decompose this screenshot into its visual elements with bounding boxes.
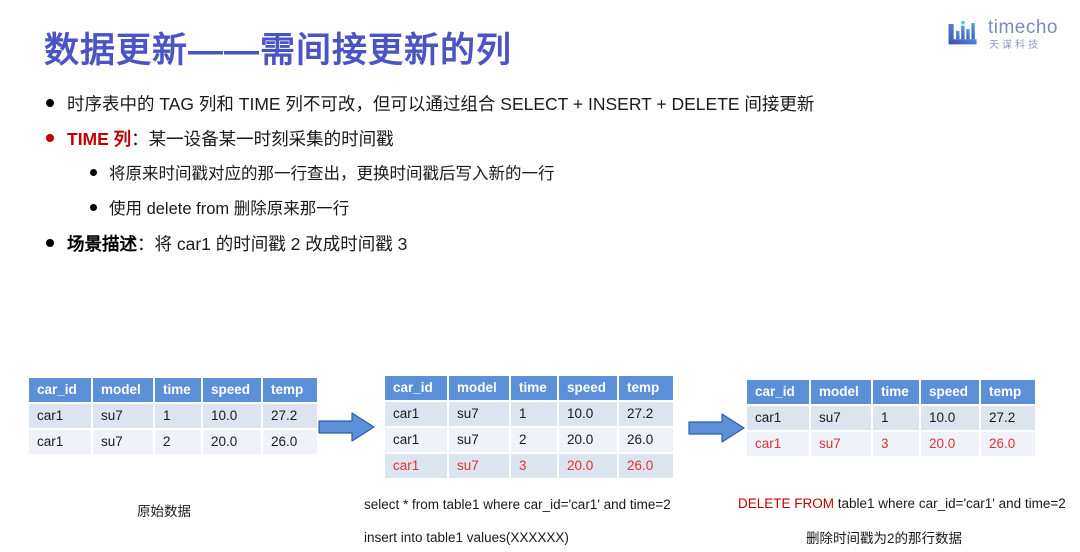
column-header-model: model bbox=[811, 380, 871, 404]
column-header-model: model bbox=[449, 376, 509, 400]
cell-car-id: car1 bbox=[385, 454, 447, 478]
caption-delete-rest: table1 where car_id='car1' and time=2 bbox=[834, 496, 1066, 511]
table-row: car1 su7 1 10.0 27.2 bbox=[747, 406, 1035, 430]
cell-model: su7 bbox=[93, 404, 153, 428]
column-header-speed: speed bbox=[921, 380, 979, 404]
cell-speed: 20.0 bbox=[203, 430, 261, 454]
caption-delete-statement: DELETE FROM table1 where car_id='car1' a… bbox=[738, 496, 1066, 511]
column-header-time: time bbox=[155, 378, 201, 402]
cell-car-id: car1 bbox=[29, 404, 91, 428]
table-row-highlighted: car1 su7 3 20.0 26.0 bbox=[385, 454, 673, 478]
column-header-temp: temp bbox=[619, 376, 673, 400]
column-header-temp: temp bbox=[981, 380, 1035, 404]
cell-model: su7 bbox=[449, 454, 509, 478]
table-row: car1 su7 2 20.0 26.0 bbox=[385, 428, 673, 452]
cell-time: 2 bbox=[155, 430, 201, 454]
arrow-right-icon bbox=[318, 412, 376, 442]
cell-time: 3 bbox=[873, 432, 919, 456]
cell-time: 3 bbox=[511, 454, 557, 478]
diagram-area: car_id model time speed temp car1 su7 1 … bbox=[0, 0, 1080, 552]
caption-delete-keyword: DELETE FROM bbox=[738, 496, 834, 511]
table-after-delete: car_id model time speed temp car1 su7 1 … bbox=[745, 378, 1037, 458]
cell-model: su7 bbox=[811, 432, 871, 456]
cell-model: su7 bbox=[449, 428, 509, 452]
cell-model: su7 bbox=[93, 430, 153, 454]
arrow-right-icon bbox=[688, 413, 746, 443]
table-header-row: car_id model time speed temp bbox=[747, 380, 1035, 404]
caption-select-statement: select * from table1 where car_id='car1'… bbox=[364, 497, 671, 512]
cell-time: 1 bbox=[511, 402, 557, 426]
table-row: car1 su7 1 10.0 27.2 bbox=[385, 402, 673, 426]
caption-delete-description: 删除时间戳为2的那行数据 bbox=[806, 527, 962, 547]
cell-temp: 26.0 bbox=[263, 430, 317, 454]
column-header-car-id: car_id bbox=[747, 380, 809, 404]
table-row: car1 su7 2 20.0 26.0 bbox=[29, 430, 317, 454]
cell-car-id: car1 bbox=[747, 432, 809, 456]
cell-speed: 10.0 bbox=[559, 402, 617, 426]
cell-temp: 27.2 bbox=[263, 404, 317, 428]
table-row-highlighted: car1 su7 3 20.0 26.0 bbox=[747, 432, 1035, 456]
cell-temp: 26.0 bbox=[619, 454, 673, 478]
column-header-car-id: car_id bbox=[385, 376, 447, 400]
cell-speed: 20.0 bbox=[921, 432, 979, 456]
cell-car-id: car1 bbox=[747, 406, 809, 430]
cell-speed: 10.0 bbox=[921, 406, 979, 430]
table-row: car1 su7 1 10.0 27.2 bbox=[29, 404, 317, 428]
column-header-car-id: car_id bbox=[29, 378, 91, 402]
column-header-time: time bbox=[873, 380, 919, 404]
table-header-row: car_id model time speed temp bbox=[29, 378, 317, 402]
column-header-speed: speed bbox=[559, 376, 617, 400]
table-after-insert: car_id model time speed temp car1 su7 1 … bbox=[383, 374, 675, 480]
cell-car-id: car1 bbox=[385, 402, 447, 426]
cell-speed: 10.0 bbox=[203, 404, 261, 428]
cell-speed: 20.0 bbox=[559, 454, 617, 478]
cell-time: 1 bbox=[873, 406, 919, 430]
cell-time: 2 bbox=[511, 428, 557, 452]
cell-temp: 27.2 bbox=[619, 402, 673, 426]
column-header-temp: temp bbox=[263, 378, 317, 402]
cell-time: 1 bbox=[155, 404, 201, 428]
cell-speed: 20.0 bbox=[559, 428, 617, 452]
table-header-row: car_id model time speed temp bbox=[385, 376, 673, 400]
cell-model: su7 bbox=[449, 402, 509, 426]
column-header-model: model bbox=[93, 378, 153, 402]
caption-insert-statement: insert into table1 values(XXXXXX) bbox=[364, 530, 569, 545]
column-header-time: time bbox=[511, 376, 557, 400]
cell-temp: 26.0 bbox=[619, 428, 673, 452]
column-header-speed: speed bbox=[203, 378, 261, 402]
cell-model: su7 bbox=[811, 406, 871, 430]
table-original-data: car_id model time speed temp car1 su7 1 … bbox=[27, 376, 319, 456]
cell-car-id: car1 bbox=[385, 428, 447, 452]
cell-car-id: car1 bbox=[29, 430, 91, 454]
cell-temp: 26.0 bbox=[981, 432, 1035, 456]
caption-original-data: 原始数据 bbox=[137, 500, 191, 520]
cell-temp: 27.2 bbox=[981, 406, 1035, 430]
